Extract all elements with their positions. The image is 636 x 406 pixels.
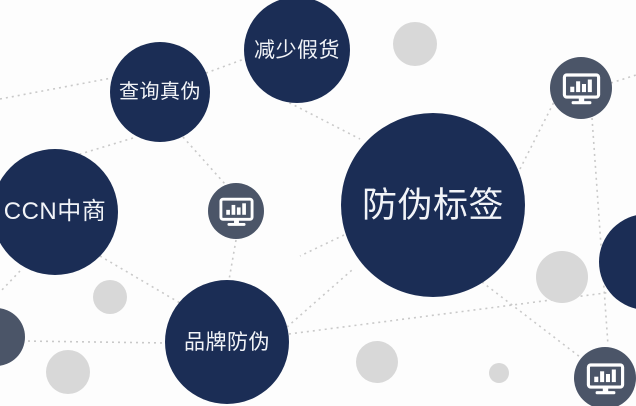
connector-line <box>284 100 360 139</box>
node-reduce-fakes[interactable]: 减少假货 <box>244 0 350 103</box>
node-icon-node-bottom-right[interactable] <box>574 347 636 406</box>
node-query-authenticity[interactable]: 查询真伪 <box>110 42 210 142</box>
decorative-circle <box>356 341 398 383</box>
monitor-chart-icon <box>559 66 604 111</box>
connector-line <box>520 102 554 169</box>
connector-line <box>0 271 20 292</box>
monitor-chart-icon <box>583 356 628 401</box>
connector-line <box>183 137 225 184</box>
connector-line <box>289 289 636 334</box>
node-brand-anti-counterfeit[interactable]: 品牌防伪 <box>165 280 289 404</box>
node-label: 防伪标签 <box>362 188 504 223</box>
decorative-circle <box>93 280 127 314</box>
node-ccn-zhongshang[interactable]: CCN中商 <box>0 149 118 275</box>
node-edge-node-right[interactable] <box>599 214 636 310</box>
connector-line <box>0 77 117 99</box>
decorative-circle <box>536 251 588 303</box>
connector-line <box>611 75 636 83</box>
connector-line <box>300 235 344 256</box>
node-label: CCN中商 <box>4 200 107 224</box>
decorative-circle <box>46 350 90 394</box>
node-icon-node-center-left[interactable] <box>208 183 264 239</box>
connector-line <box>229 240 236 280</box>
connector-line <box>22 341 168 343</box>
node-label: 减少假货 <box>254 40 340 61</box>
decorative-circle <box>489 363 509 383</box>
node-label: 品牌防伪 <box>184 332 270 353</box>
node-label: 查询真伪 <box>119 82 201 102</box>
monitor-chart-icon <box>216 191 257 232</box>
connector-line <box>206 58 247 73</box>
connector-line <box>287 270 352 327</box>
node-edge-node-left[interactable] <box>0 308 25 366</box>
bubble-network-graphic: 减少假货查询真伪CCN中商防伪标签品牌防伪 <box>0 0 636 406</box>
decorative-circle <box>393 22 437 66</box>
connector-line <box>77 138 133 155</box>
node-icon-node-top-right[interactable] <box>550 57 612 119</box>
node-anti-counterfeit-label[interactable]: 防伪标签 <box>341 113 525 297</box>
connector-line <box>592 118 608 345</box>
